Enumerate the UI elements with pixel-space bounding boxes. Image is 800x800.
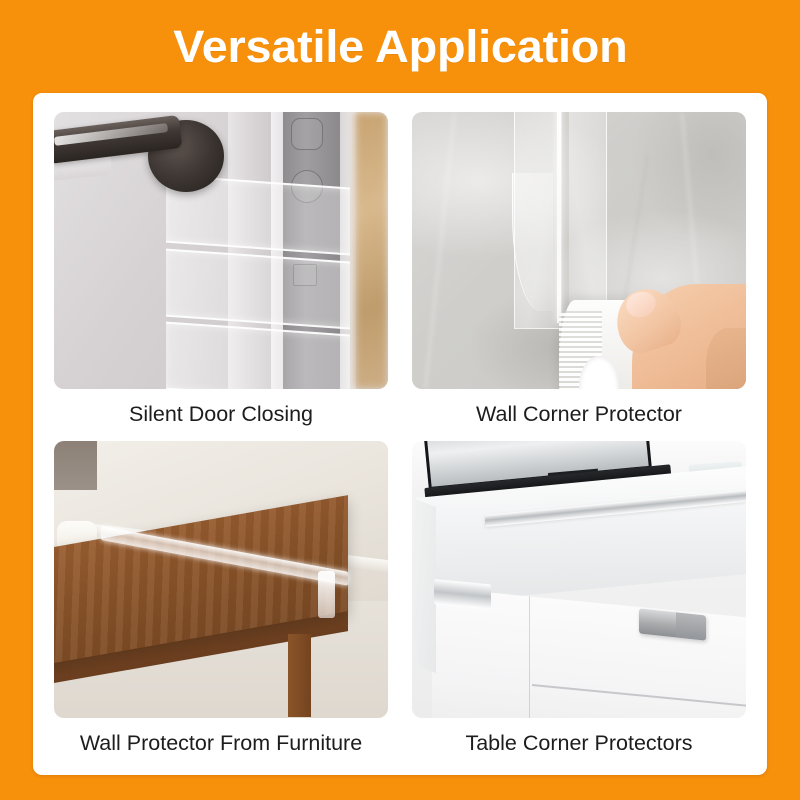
panel-silent-door-closing: Silent Door Closing	[54, 112, 388, 431]
page-title: Versatile Application	[173, 24, 627, 69]
header-banner: Versatile Application	[0, 0, 800, 92]
drawer-handle-end	[676, 612, 706, 640]
feature-card: Silent Door Closing	[33, 93, 767, 775]
clear-edge-protector-end	[318, 571, 335, 618]
panel-caption: Wall Corner Protector	[476, 403, 682, 427]
door-slot-icon	[291, 118, 323, 150]
background-blur	[355, 112, 388, 389]
clear-tape-right-face	[569, 112, 607, 328]
corner-protector-strip	[166, 322, 350, 389]
cabinet-panel-seam	[529, 596, 531, 718]
panel-caption: Table Corner Protectors	[465, 732, 692, 756]
panel-table-corner-protectors: Table Corner Protectors	[412, 441, 746, 760]
promo-image-root: Versatile Application	[0, 0, 800, 800]
panel-wall-protector-from-furniture: Wall Protector From Furniture	[54, 441, 388, 760]
panel-caption: Wall Protector From Furniture	[80, 732, 362, 756]
tv-cabinet-photo	[412, 441, 746, 718]
wall-corner-edge	[557, 112, 561, 323]
feature-grid: Silent Door Closing	[33, 93, 767, 775]
door-handle-photo	[54, 112, 388, 389]
thumb	[706, 328, 746, 389]
table-leg	[288, 634, 311, 717]
panel-caption: Silent Door Closing	[129, 403, 313, 427]
cabinet-side	[412, 492, 435, 673]
wall-corner-photo	[412, 112, 746, 389]
wood-table-photo	[54, 441, 388, 718]
wall-shadow-corner	[54, 441, 97, 491]
corner-protector-strip	[166, 248, 350, 329]
panel-wall-corner-protector: Wall Corner Protector	[412, 112, 746, 431]
